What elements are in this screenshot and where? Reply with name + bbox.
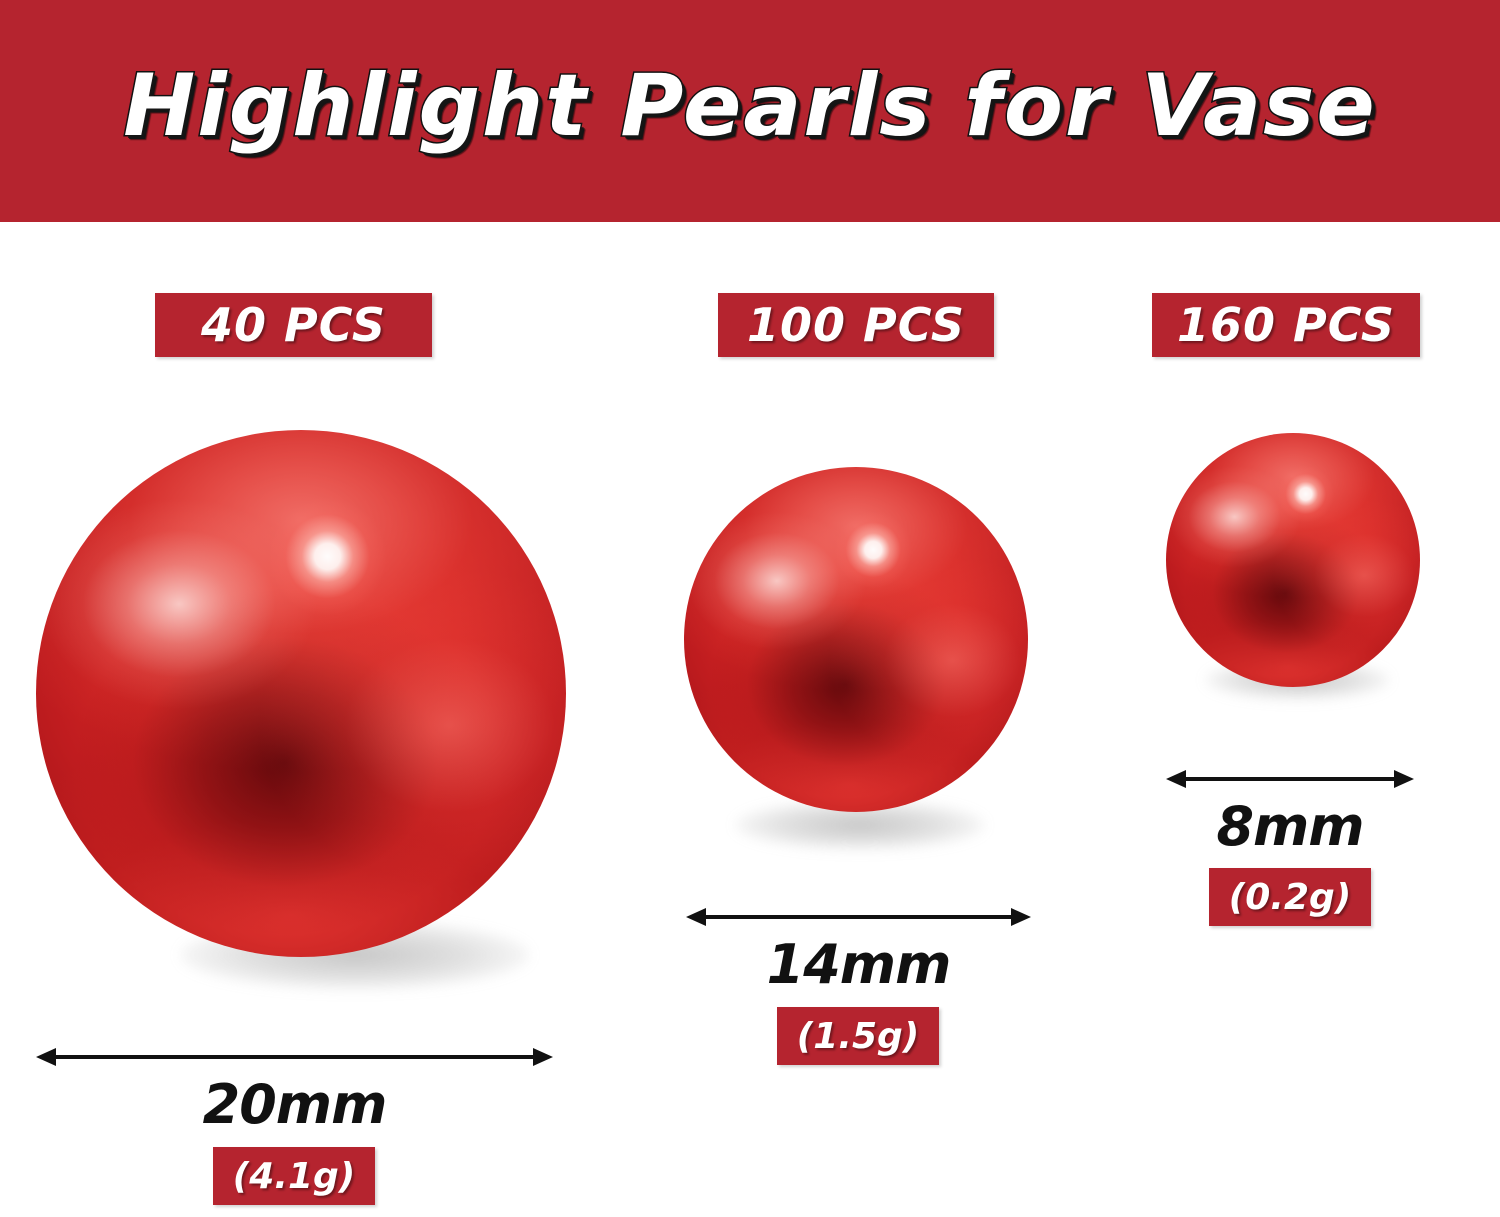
red-pearl-sphere-icon xyxy=(36,430,566,957)
diameter-label-small: 8mm xyxy=(1166,795,1414,858)
diameter-label-large: 20mm xyxy=(36,1073,553,1136)
page-title: Highlight Pearls for Vase xyxy=(0,56,1500,156)
pearl-image-medium xyxy=(684,467,1028,812)
red-pearl-sphere-icon xyxy=(1166,433,1420,687)
pcs-badge-medium: 100 PCS xyxy=(718,293,994,357)
weight-badge-medium: (1.5g) xyxy=(777,1007,939,1065)
pcs-badge-large: 40 PCS xyxy=(155,293,432,357)
dimension-arrow-large xyxy=(36,1043,553,1071)
pearl-image-small xyxy=(1166,433,1420,687)
weight-badge-large: (4.1g) xyxy=(213,1147,375,1205)
red-pearl-sphere-icon xyxy=(684,467,1028,812)
pcs-badge-small: 160 PCS xyxy=(1152,293,1420,357)
product-infographic: Highlight Pearls for Vase 40 PCS 100 PCS… xyxy=(0,0,1500,1217)
diameter-label-medium: 14mm xyxy=(686,933,1031,996)
pearl-image-large xyxy=(36,430,566,957)
dimension-arrow-medium xyxy=(686,903,1031,931)
weight-badge-small: (0.2g) xyxy=(1209,868,1371,926)
header-banner: Highlight Pearls for Vase xyxy=(0,0,1500,222)
dimension-arrow-small xyxy=(1166,765,1414,793)
